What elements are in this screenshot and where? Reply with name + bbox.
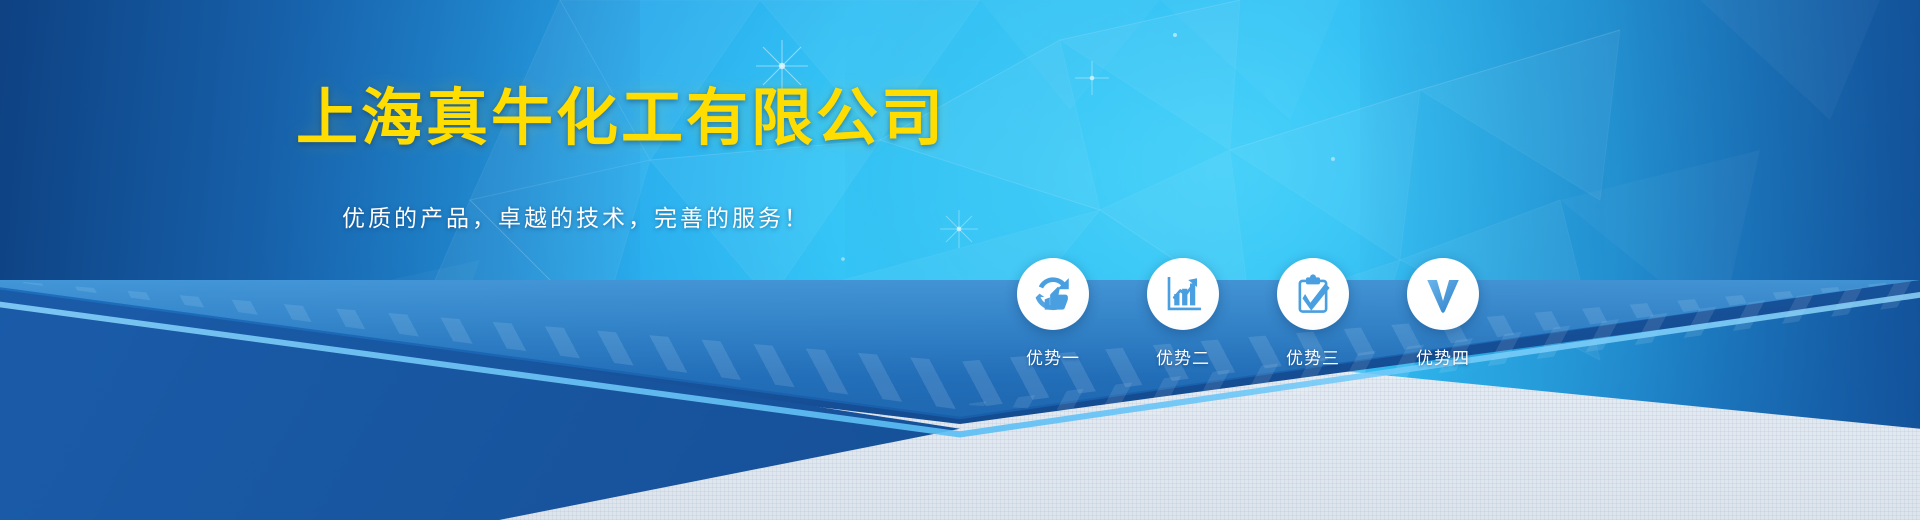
feature-icon-disc — [1147, 258, 1219, 330]
feature-item-4[interactable]: 优势四 — [1402, 258, 1484, 369]
feature-item-3[interactable]: 优势三 — [1272, 258, 1354, 369]
bar-chart-growth-icon — [1162, 273, 1204, 315]
feature-label: 优势二 — [1156, 344, 1210, 369]
hero-text-block: 上海真牛化工有限公司 优质的产品，卓越的技术，完善的服务！ — [296, 86, 856, 233]
feature-label: 优势四 — [1416, 344, 1470, 369]
feature-icon-disc — [1407, 258, 1479, 330]
clipboard-check-icon — [1292, 273, 1334, 315]
feature-icon-disc — [1277, 258, 1349, 330]
feature-label: 优势三 — [1286, 344, 1340, 369]
bottom-chevron-decoration — [0, 280, 1920, 520]
refresh-thumbsup-icon — [1032, 273, 1074, 315]
page-title: 上海真牛化工有限公司 — [296, 86, 856, 153]
feature-label: 优势一 — [1026, 344, 1080, 369]
company-hero-banner: 上海真牛化工有限公司 优质的产品，卓越的技术，完善的服务！ 优势一 — [0, 0, 1920, 520]
page-subtitle: 优质的产品，卓越的技术，完善的服务！ — [296, 199, 856, 233]
v-badge-icon — [1422, 273, 1464, 315]
feature-item-2[interactable]: 优势二 — [1142, 258, 1224, 369]
feature-item-1[interactable]: 优势一 — [1012, 258, 1094, 369]
feature-advantages-list: 优势一 — [1012, 258, 1484, 369]
feature-icon-disc — [1017, 258, 1089, 330]
